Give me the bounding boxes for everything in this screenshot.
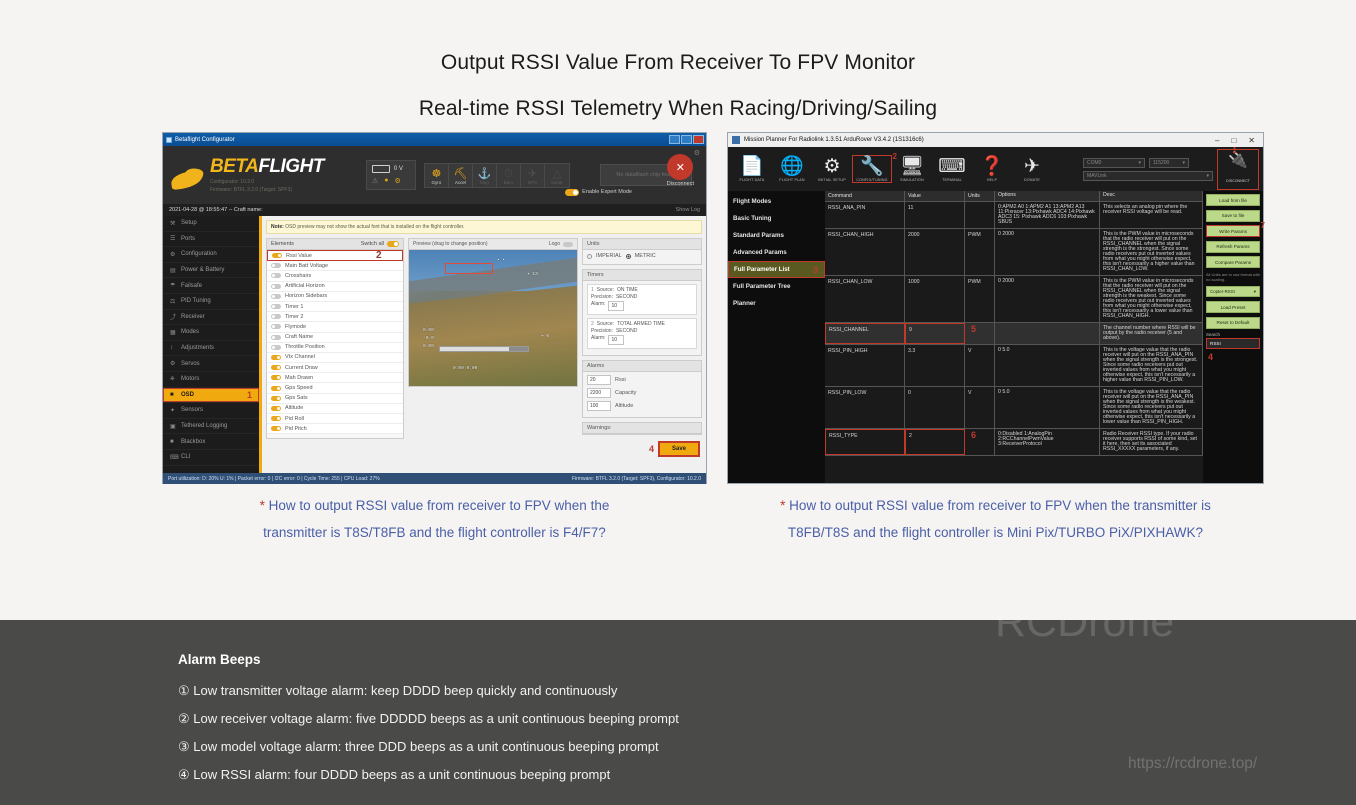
element-row[interactable]: Throttle Position <box>267 343 403 353</box>
elements-panel: Elements Switch all Rssi Value2Main Batt… <box>266 238 404 439</box>
element-row[interactable]: Craft Name <box>267 333 403 343</box>
mp-sidebar[interactable]: Flight ModesBasic TuningStandard ParamsA… <box>728 191 825 483</box>
load-preset-button[interactable]: Load Preset <box>1206 301 1260 313</box>
alarm-label: Altitude <box>615 403 633 409</box>
mp-button-write-params[interactable]: Write Params7 <box>1206 225 1260 237</box>
sidebar-item-label: Servos <box>181 361 200 367</box>
sidebar-item-pid-tuning[interactable]: ⚖PID Tuning <box>163 294 259 310</box>
betaflight-body: ⚒Setup☰Ports⚙Configuration▤Power & Batte… <box>163 216 706 473</box>
alarm-list-item: ③ Low model voltage alarm: three DDD bee… <box>178 733 1356 761</box>
disconnect-icon[interactable] <box>667 154 693 180</box>
element-row[interactable]: Pid Pitch <box>267 424 403 434</box>
selection-outline <box>163 388 259 403</box>
rssi-element-highlight <box>445 263 493 274</box>
sidebar-item-motors[interactable]: ⎈Motors <box>163 372 259 388</box>
tab-label: HELP <box>972 178 1012 182</box>
toggle-icon[interactable] <box>271 355 281 360</box>
mp-tab-donate[interactable]: ✈DONATE <box>1012 156 1052 182</box>
column-header: Value <box>905 191 965 201</box>
toggle-icon[interactable] <box>271 416 281 421</box>
param-command: RSSI_PIN_LOW <box>825 387 905 428</box>
toggle-icon[interactable] <box>271 426 281 431</box>
sidebar-item-sensors[interactable]: ✦Sensors <box>163 403 259 419</box>
element-label: Crosshairs <box>285 273 311 279</box>
param-value[interactable]: 11 <box>905 202 965 228</box>
column-header: Desc <box>1100 191 1203 201</box>
imperial-radio[interactable] <box>587 254 592 259</box>
timer-source-value[interactable]: TOTAL ARMED TIME <box>617 321 665 327</box>
column-header: Command <box>825 191 905 201</box>
sidebar-item-setup[interactable]: ⚒Setup <box>163 216 259 232</box>
imperial-label: IMPERIAL <box>596 253 622 259</box>
param-desc: This is the PWM value in microseconds th… <box>1100 229 1203 275</box>
toggle-icon[interactable] <box>272 253 282 258</box>
preset-dropdown[interactable]: Copter-RSSI▾ <box>1206 286 1260 297</box>
element-row[interactable]: Timer 2 <box>267 312 403 322</box>
sidebar-item-label: Motors <box>181 376 199 382</box>
maximize-icon[interactable]: □ <box>1231 136 1236 145</box>
param-desc: This is the voltage value that the radio… <box>1100 345 1203 386</box>
menu-icon: ■ <box>170 439 177 445</box>
note-text: OSD preview may not show the actual font… <box>284 224 465 230</box>
toggle-icon[interactable] <box>271 294 281 299</box>
timer-index: 2 <box>591 321 594 327</box>
sidebar-item-ports[interactable]: ☰Ports <box>163 232 259 248</box>
link-type-select[interactable]: MAVLink▾ <box>1083 171 1213 181</box>
switch-all-label: Switch all <box>361 241 384 247</box>
disconnect-label: DISCONNECT <box>1226 179 1250 183</box>
title-line-1: Output RSSI Value From Receiver To FPV M… <box>0 40 1356 86</box>
osd-glyph: ✈ 13 <box>527 272 538 277</box>
minimize-icon[interactable] <box>669 135 680 144</box>
element-label: Pid Roll <box>285 416 304 422</box>
element-label: Mah Drawn <box>285 375 313 381</box>
parameter-row[interactable]: RSSI_ANA_PIN110:APM2 A0 1:APM2 A1 13:APM… <box>825 202 1203 229</box>
window-controls[interactable] <box>669 135 706 144</box>
tab-label: SIMULATION <box>892 178 932 182</box>
bird-logo-icon <box>171 168 205 194</box>
warnings-group: Warnings: <box>582 422 702 435</box>
toggle-icon[interactable] <box>271 314 281 319</box>
alarm-list-item: ② Low receiver voltage alarm: five DDDDD… <box>178 705 1356 733</box>
close-icon[interactable] <box>693 135 704 144</box>
menu-icon: ⚙ <box>170 360 177 367</box>
usb-icon: ⚙ <box>394 177 400 185</box>
tab-label: DONATE <box>1012 178 1052 182</box>
element-row[interactable]: Pid Roll <box>267 414 403 424</box>
osd-glyph: 0.00 <box>423 328 434 333</box>
element-row[interactable]: Mah Drawn <box>267 373 403 383</box>
alarm-row[interactable]: 2200Capacity <box>587 388 697 398</box>
mp-window-title: Mission Planner For Radiolink 1.3.51 Ard… <box>744 137 924 143</box>
sidebar-item-label: Sensors <box>181 407 203 413</box>
menu-icon: ✦ <box>170 407 177 414</box>
mp-sidebar-label: Standard Params <box>733 232 784 239</box>
metric-label: METRIC <box>635 253 656 259</box>
toggle-icon[interactable] <box>271 273 281 278</box>
sidebar-item-configuration[interactable]: ⚙Configuration <box>163 247 259 263</box>
preview-header: Preview (drag to change position) Logo <box>408 238 578 249</box>
wifi-icon: ● <box>384 177 388 185</box>
tab-label: INITIAL SETUP <box>812 178 852 182</box>
mp-sidebar-label: Planner <box>733 300 756 307</box>
element-row[interactable]: Crosshairs <box>267 271 403 281</box>
column-header: Units <box>965 191 995 201</box>
alarm-value-input[interactable]: 20 <box>587 375 611 385</box>
toggle-icon[interactable] <box>271 304 281 309</box>
timers-header: Timers <box>583 270 701 281</box>
sidebar-item-cli[interactable]: ⌨CLI <box>163 450 259 466</box>
tab-icon: 🔧 <box>853 156 891 178</box>
step-marker: 6 <box>971 430 976 440</box>
mp-sidebar-item-advanced-params[interactable]: Advanced Params <box>728 244 825 261</box>
parameter-row[interactable]: RSSI_PIN_LOW0V0 5.0This is the voltage v… <box>825 387 1203 429</box>
element-row[interactable]: Gps Speed <box>267 383 403 393</box>
mp-tab-group[interactable]: 📄FLIGHT DATA🌐FLIGHT PLAN⚙INITIAL SETUP🔧C… <box>732 155 1052 183</box>
param-value[interactable]: 0 <box>905 387 965 428</box>
parameter-row[interactable]: 5RSSI_CHANNEL9The channel number where R… <box>825 323 1203 345</box>
toggle-icon[interactable] <box>271 396 281 401</box>
mp-actions-column: Load from fileSave to fileWrite Params7R… <box>1203 191 1263 483</box>
timers-group: Timers 1Source:ON TIMEPrecision:SECONDAl… <box>582 269 702 356</box>
alarm-value-input[interactable]: 2200 <box>587 388 611 398</box>
osd-columns: Elements Switch all Rssi Value2Main Batt… <box>266 238 702 439</box>
gear-icon[interactable]: ⚙ <box>694 149 700 157</box>
sidebar-item-label: CLI <box>181 454 190 460</box>
close-icon[interactable]: ✕ <box>1248 136 1255 145</box>
sidebar-item-adjustments[interactable]: ↕Adjustments <box>163 341 259 357</box>
param-options: 0 2000 <box>995 276 1100 322</box>
mp-button-compare-params[interactable]: Compare Params <box>1206 256 1260 268</box>
alarm-row[interactable]: 20Rssi <box>587 375 697 385</box>
param-desc: Radio Receiver RSSI type. If your radio … <box>1100 429 1203 455</box>
betaflight-logo: BETAFLIGHT Configurator: 10.2.0 Firmware… <box>171 156 324 194</box>
element-row[interactable]: Rssi Value2 <box>267 250 403 261</box>
toggle-icon[interactable] <box>271 386 281 391</box>
screenshot-row: Betaflight Configurator BETAFLIGHT Confi… <box>0 132 1356 492</box>
status-right: Firmware: BTFL 3.2.0 (Target: SPF3), Con… <box>572 476 701 482</box>
step-marker: 7 <box>1261 221 1265 230</box>
element-row[interactable]: Main Batt Voltage <box>267 261 403 271</box>
toggle-icon[interactable] <box>271 263 281 268</box>
baud-rate-select[interactable]: 115200▾ <box>1149 158 1189 168</box>
mp-sidebar-label: Flight Modes <box>733 198 771 205</box>
mp-tab-flight-plan[interactable]: 🌐FLIGHT PLAN <box>772 156 812 182</box>
parameter-row[interactable]: RSSI_CHAN_LOW1000PWM0 2000This is the PW… <box>825 276 1203 323</box>
osd-glyph: 0:00 0:00 <box>453 366 477 371</box>
timer-precision-value[interactable]: SECOND <box>616 294 637 300</box>
mp-sidebar-label: Full Parameter List <box>734 266 790 273</box>
disconnect-label: Disconnect <box>667 181 694 187</box>
mp-sidebar-item-standard-params[interactable]: Standard Params <box>728 227 825 244</box>
firmware-version: Firmware: BTFL 3.2.0 (Target: SPF3) <box>210 187 324 194</box>
sidebar-item-label: Ports <box>181 236 195 242</box>
element-row[interactable]: Altitude <box>267 404 403 414</box>
sidebar-item-receiver[interactable]: ⤴Receiver <box>163 310 259 326</box>
save-button[interactable]: Save <box>658 441 700 457</box>
toggle-icon[interactable] <box>565 189 579 196</box>
mp-sidebar-label: Full Parameter Tree <box>733 283 790 290</box>
mp-parameter-table[interactable]: CommandValueUnitsOptionsDesc RSSI_ANA_PI… <box>825 191 1203 483</box>
osd-settings-column: Units IMPERIAL METRIC <box>582 238 702 439</box>
osd-glyph: 0.00 <box>423 344 434 349</box>
disconnect-button[interactable]: Disconnect <box>667 154 694 187</box>
param-command: RSSI_TYPE <box>825 429 905 455</box>
sensor-label: Baro <box>497 180 520 185</box>
sensor-label: Mag <box>473 180 496 185</box>
accel-icon: ⛏ <box>449 168 472 180</box>
timer-alarm-input[interactable]: 10 <box>608 335 624 345</box>
mp-body: Flight ModesBasic TuningStandard ParamsA… <box>728 191 1263 483</box>
param-units <box>965 202 995 228</box>
elements-header-row: Elements Switch all <box>267 239 403 250</box>
element-row[interactable]: Flymode <box>267 322 403 332</box>
timer-row[interactable]: 1Source:ON TIMEPrecision:SECONDAlarm:10 <box>587 284 697 315</box>
element-label: Gps Sats <box>285 395 308 401</box>
sensor-label: Accel <box>449 180 472 185</box>
menu-icon: ▦ <box>170 329 177 336</box>
mp-connection-area: COM0▾ 115200▾ MAVLink▾ 1 🔌 DISCONNECT <box>1083 149 1259 190</box>
button-label: Refresh Params <box>1216 244 1249 249</box>
timer-alarm-label: Alarm: <box>591 301 605 311</box>
toggle-icon[interactable] <box>271 335 281 340</box>
toggle-icon[interactable] <box>271 365 281 370</box>
toggle-icon[interactable] <box>387 241 399 247</box>
mp-connection-fields: COM0▾ 115200▾ MAVLink▾ <box>1083 158 1213 181</box>
element-row[interactable]: Current Draw <box>267 363 403 373</box>
mp-sidebar-item-full-parameter-tree[interactable]: Full Parameter Tree <box>728 278 825 295</box>
mp-action-buttons[interactable]: Load from fileSave to fileWrite Params7R… <box>1206 194 1260 268</box>
caption-right-line2: T8FB/T8S and the flight controller is Mi… <box>727 519 1264 546</box>
elements-list[interactable]: Rssi Value2Main Batt VoltageCrosshairsAr… <box>267 250 403 434</box>
warnings-header: Warnings: <box>583 423 701 434</box>
timer-precision-label: Precision: <box>591 328 613 334</box>
element-row[interactable]: Vtx Channel <box>267 353 403 363</box>
osd-note: Note: OSD preview may not show the actua… <box>266 220 702 234</box>
parameter-row[interactable]: RSSI_PIN_HIGH3.3V0 5.0This is the voltag… <box>825 345 1203 387</box>
alarm-heading: Alarm Beeps <box>178 652 1356 667</box>
mp-units-note: All Units are in raw format with no scal… <box>1206 272 1260 282</box>
mp-sidebar-item-planner[interactable]: Planner <box>728 295 825 312</box>
save-marker: 4 <box>649 444 654 454</box>
mp-tab-simulation[interactable]: 🖥SIMULATION <box>892 156 932 182</box>
brand-wordmark: BETAFLIGHT <box>210 156 324 178</box>
menu-icon: ⚒ <box>170 220 177 227</box>
tab-icon: ⌨ <box>932 156 972 178</box>
note-bold: Note: <box>271 224 284 230</box>
sidebar-item-blackbox[interactable]: ■Blackbox <box>163 434 259 450</box>
param-value[interactable]: 1000 <box>905 276 965 322</box>
toggle-icon[interactable] <box>271 284 281 289</box>
window-controls[interactable]: – □ ✕ <box>1215 136 1259 145</box>
menu-icon: ☂ <box>170 282 177 289</box>
app-icon <box>732 136 740 144</box>
mag-icon: ⚓ <box>473 168 496 180</box>
search-input[interactable]: RSSI <box>1206 338 1260 349</box>
tab-label: FLIGHT PLAN <box>772 178 812 182</box>
mp-sidebar-label: Basic Tuning <box>733 215 771 222</box>
mp-tab-config-tuning[interactable]: 🔧CONFIG/TUNING2 <box>852 155 892 183</box>
mp-tab-flight-data[interactable]: 📄FLIGHT DATA <box>732 156 772 182</box>
sidebar-item-label: Failsafe <box>181 283 202 289</box>
timer-alarm-input[interactable]: 10 <box>608 301 624 311</box>
throttle-bar <box>439 346 529 352</box>
sidebar-item-label: Configuration <box>181 251 217 257</box>
param-options: 0:Disabled 1:AnalogPin 2:RCChannelPwmVal… <box>995 429 1100 455</box>
alarms-group: Alarms 20Rssi2200Capacity100Altitude <box>582 360 702 418</box>
sidebar-item-tethered-logging[interactable]: ▣Tethered Logging <box>163 419 259 435</box>
timer-source-value[interactable]: ON TIME <box>617 287 638 293</box>
sidebar-item-power-battery[interactable]: ▤Power & Battery <box>163 263 259 279</box>
mp-disconnect-button[interactable]: 1 🔌 DISCONNECT <box>1217 149 1259 190</box>
warning-icon: ⚠ <box>372 177 378 185</box>
parameter-row[interactable]: RSSI_CHAN_HIGH2000PWM0 2000This is the P… <box>825 229 1203 276</box>
mp-sidebar-item-full-parameter-list[interactable]: Full Parameter List3 <box>728 261 825 278</box>
menu-icon: ▤ <box>170 267 177 274</box>
element-label: Artificial Horizon <box>285 283 325 289</box>
search-label: Search <box>1206 332 1260 337</box>
expert-mode-label: Enable Expert Mode <box>582 189 632 196</box>
betaflight-dateline: 2021-04-28 @ 18:55:47 -- Craft name: Sho… <box>163 204 706 216</box>
timer-alarm-label: Alarm: <box>591 335 605 345</box>
element-row[interactable]: Gps Sats <box>267 394 403 404</box>
betaflight-sidebar[interactable]: ⚒Setup☰Ports⚙Configuration▤Power & Batte… <box>163 216 259 473</box>
element-row[interactable]: Artificial Horizon <box>267 282 403 292</box>
sonar-icon: △ <box>545 168 569 180</box>
sidebar-item-label: Tethered Logging <box>181 423 227 429</box>
mp-toolbar: 📄FLIGHT DATA🌐FLIGHT PLAN⚙INITIAL SETUP🔧C… <box>728 147 1263 191</box>
param-units <box>965 323 995 344</box>
baro-icon: ⏱ <box>497 168 520 180</box>
alarm-value-input[interactable]: 100 <box>587 401 611 411</box>
toggle-icon[interactable] <box>271 345 281 350</box>
toggle-icon[interactable] <box>271 375 281 380</box>
param-value[interactable]: 2000 <box>905 229 965 275</box>
osd-preview-panel: Preview (drag to change position) Logo •… <box>408 238 578 439</box>
element-row[interactable]: Timer 1 <box>267 302 403 312</box>
element-label: Gps Speed <box>285 385 313 391</box>
com-port-select[interactable]: COM0▾ <box>1083 158 1145 168</box>
sidebar-item-servos[interactable]: ⚙Servos <box>163 356 259 372</box>
alarms-header: Alarms <box>583 361 701 372</box>
timer-row[interactable]: 2Source:TOTAL ARMED TIMEPrecision:SECOND… <box>587 318 697 349</box>
sidebar-item-label: PID Tuning <box>181 298 211 304</box>
minimize-icon[interactable]: – <box>1215 136 1219 145</box>
units-group: Units IMPERIAL METRIC <box>582 238 702 265</box>
battery-indicator: 0 V ⚠ ● ⚙ <box>366 160 416 190</box>
disconnect-marker: 1 <box>1233 146 1237 155</box>
menu-icon: ⚙ <box>170 251 177 258</box>
mp-sidebar-item-basic-tuning[interactable]: Basic Tuning <box>728 210 825 227</box>
tab-label: CONFIG/TUNING <box>853 178 891 182</box>
mp-button-refresh-params[interactable]: Refresh Params <box>1206 241 1260 253</box>
mp-button-save-to-file[interactable]: Save to file <box>1206 210 1260 222</box>
units-header: Units <box>583 239 701 250</box>
sensor-gyro: ☸Gyro <box>425 164 449 187</box>
osd-glyph: • • <box>497 258 505 263</box>
param-command: RSSI_CHAN_LOW <box>825 276 905 322</box>
mp-table-body[interactable]: RSSI_ANA_PIN110:APM2 A0 1:APM2 A1 13:APM… <box>825 202 1203 456</box>
mp-tab-terminal[interactable]: ⌨TERMINAL <box>932 156 972 182</box>
step-marker: 5 <box>971 324 976 334</box>
toggle-icon[interactable] <box>563 242 573 247</box>
menu-icon: ⚖ <box>170 298 177 305</box>
battery-icon <box>372 165 390 173</box>
element-label: Flymode <box>285 324 306 330</box>
metric-radio[interactable] <box>626 254 631 259</box>
switch-all-toggle[interactable]: Switch all <box>361 241 399 247</box>
osd-preview-canvas[interactable]: • • ✈ 13 0.00 -0.0 0.00 ➔ 0 0:00 0:00 <box>408 249 578 387</box>
show-log-link[interactable]: Show Log <box>676 207 700 213</box>
sensor-label: Gyro <box>425 180 448 185</box>
param-units: PWM <box>965 229 995 275</box>
sidebar-item-failsafe[interactable]: ☂Failsafe <box>163 278 259 294</box>
toggle-icon[interactable] <box>271 406 281 411</box>
mp-button-load-from-file[interactable]: Load from file <box>1206 194 1260 206</box>
toggle-icon[interactable] <box>271 324 281 329</box>
parameter-row[interactable]: 6RSSI_TYPE20:Disabled 1:AnalogPin 2:RCCh… <box>825 429 1203 456</box>
maximize-icon[interactable] <box>681 135 692 144</box>
element-label: Pid Pitch <box>285 426 307 432</box>
element-label: Horizon Sidebars <box>285 293 327 299</box>
tab-icon: 📄 <box>732 156 772 178</box>
expert-mode-toggle[interactable]: Enable Expert Mode <box>565 189 632 196</box>
alarm-row[interactable]: 100Altitude <box>587 401 697 411</box>
param-options: 0 5.0 <box>995 345 1100 386</box>
param-value[interactable]: 3.3 <box>905 345 965 386</box>
sidebar-item-label: Adjustments <box>181 345 214 351</box>
app-icon <box>166 137 172 143</box>
sensor-mag: ⚓Mag <box>473 164 497 187</box>
element-row[interactable]: Horizon Sidebars <box>267 292 403 302</box>
param-desc: This is the PWM value in microseconds th… <box>1100 276 1203 322</box>
step-marker: 3 <box>813 265 818 275</box>
sensor-baro: ⏱Baro <box>497 164 521 187</box>
param-desc: This is the voltage value that the radio… <box>1100 387 1203 428</box>
timer-index: 1 <box>591 287 594 293</box>
param-units: V <box>965 345 995 386</box>
logo-toggle[interactable]: Logo <box>549 241 573 247</box>
mp-sidebar-item-flight-modes[interactable]: Flight Modes <box>728 193 825 210</box>
alarms-list[interactable]: 20Rssi2200Capacity100Altitude <box>583 372 701 417</box>
betaflight-titlebar: Betaflight Configurator <box>163 133 706 146</box>
param-command: RSSI_ANA_PIN <box>825 202 905 228</box>
reset-default-button[interactable]: Reset to Default <box>1206 317 1260 329</box>
alarm-items-list: ① Low transmitter voltage alarm: keep DD… <box>178 677 1356 789</box>
sidebar-item-label: Modes <box>181 329 199 335</box>
osd-glyph: -0.0 <box>423 336 434 341</box>
mp-table-header: CommandValueUnitsOptionsDesc <box>825 191 1203 202</box>
timer-precision-value[interactable]: SECOND <box>616 328 637 334</box>
menu-icon: ▣ <box>170 423 177 430</box>
mp-tab-initial-setup[interactable]: ⚙INITIAL SETUP <box>812 156 852 182</box>
param-units: V <box>965 387 995 428</box>
param-value[interactable]: 9 <box>905 323 965 344</box>
timers-list[interactable]: 1Source:ON TIMEPrecision:SECONDAlarm:102… <box>583 281 701 355</box>
sensor-label: GPS <box>521 180 544 185</box>
osd-glyph: ➔ 0 <box>541 334 549 339</box>
menu-icon: ☰ <box>170 235 177 242</box>
sidebar-item-osd[interactable]: ■OSD1 <box>163 388 259 404</box>
element-label: Craft Name <box>285 334 313 340</box>
gyro-icon: ☸ <box>425 168 448 180</box>
betaflight-toolbar: 0 V ⚠ ● ⚙ ☸Gyro⛏Accel⚓Mag⏱Baro✈GPS△Sonar… <box>366 160 692 190</box>
mp-tab-help[interactable]: ❓HELP <box>972 156 1012 182</box>
element-label: Rssi Value <box>286 253 312 259</box>
sidebar-item-modes[interactable]: ▦Modes <box>163 325 259 341</box>
param-value[interactable]: 2 <box>905 429 965 455</box>
sidebar-item-label: Setup <box>181 220 197 226</box>
